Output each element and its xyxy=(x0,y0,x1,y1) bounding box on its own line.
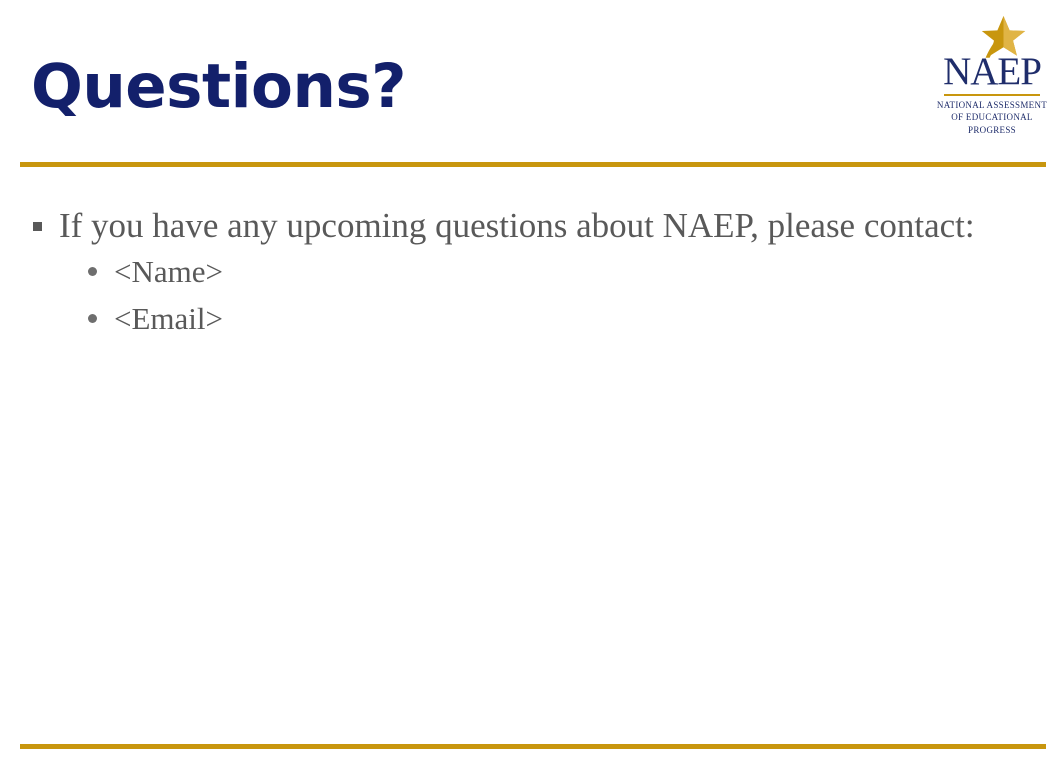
round-bullet-icon xyxy=(88,267,97,276)
tagline-line-3: PROGRESS xyxy=(932,124,1052,136)
list-item: <Email> xyxy=(59,297,1040,341)
naep-tagline: NATIONAL ASSESSMENT OF EDUCATIONAL PROGR… xyxy=(932,99,1052,136)
sub-bullet-list: <Name> <Email> xyxy=(59,250,1040,341)
footer-divider-rule xyxy=(20,744,1046,749)
sub-bullet-text: <Email> xyxy=(114,301,223,336)
page-title: Questions? xyxy=(31,55,406,119)
bullet-text: If you have any upcoming questions about… xyxy=(59,206,975,245)
logo-divider-rule xyxy=(944,94,1040,96)
naep-logo: NAEP NATIONAL ASSESSMENT OF EDUCATIONAL … xyxy=(932,14,1052,138)
tagline-line-2: OF EDUCATIONAL xyxy=(932,111,1052,123)
title-divider-rule xyxy=(20,162,1046,167)
naep-wordmark: NAEP xyxy=(932,52,1052,91)
slide: Questions? NAEP NATIONAL ASSESSMENT OF E… xyxy=(0,0,1061,760)
tagline-line-1: NATIONAL ASSESSMENT xyxy=(932,99,1052,111)
bullet-list: If you have any upcoming questions about… xyxy=(20,205,1040,341)
round-bullet-icon xyxy=(88,314,97,323)
list-item: If you have any upcoming questions about… xyxy=(20,205,1040,341)
sub-bullet-text: <Name> xyxy=(114,254,223,289)
list-item: <Name> xyxy=(59,250,1040,294)
square-bullet-icon xyxy=(33,222,42,231)
slide-body: If you have any upcoming questions about… xyxy=(20,205,1040,344)
